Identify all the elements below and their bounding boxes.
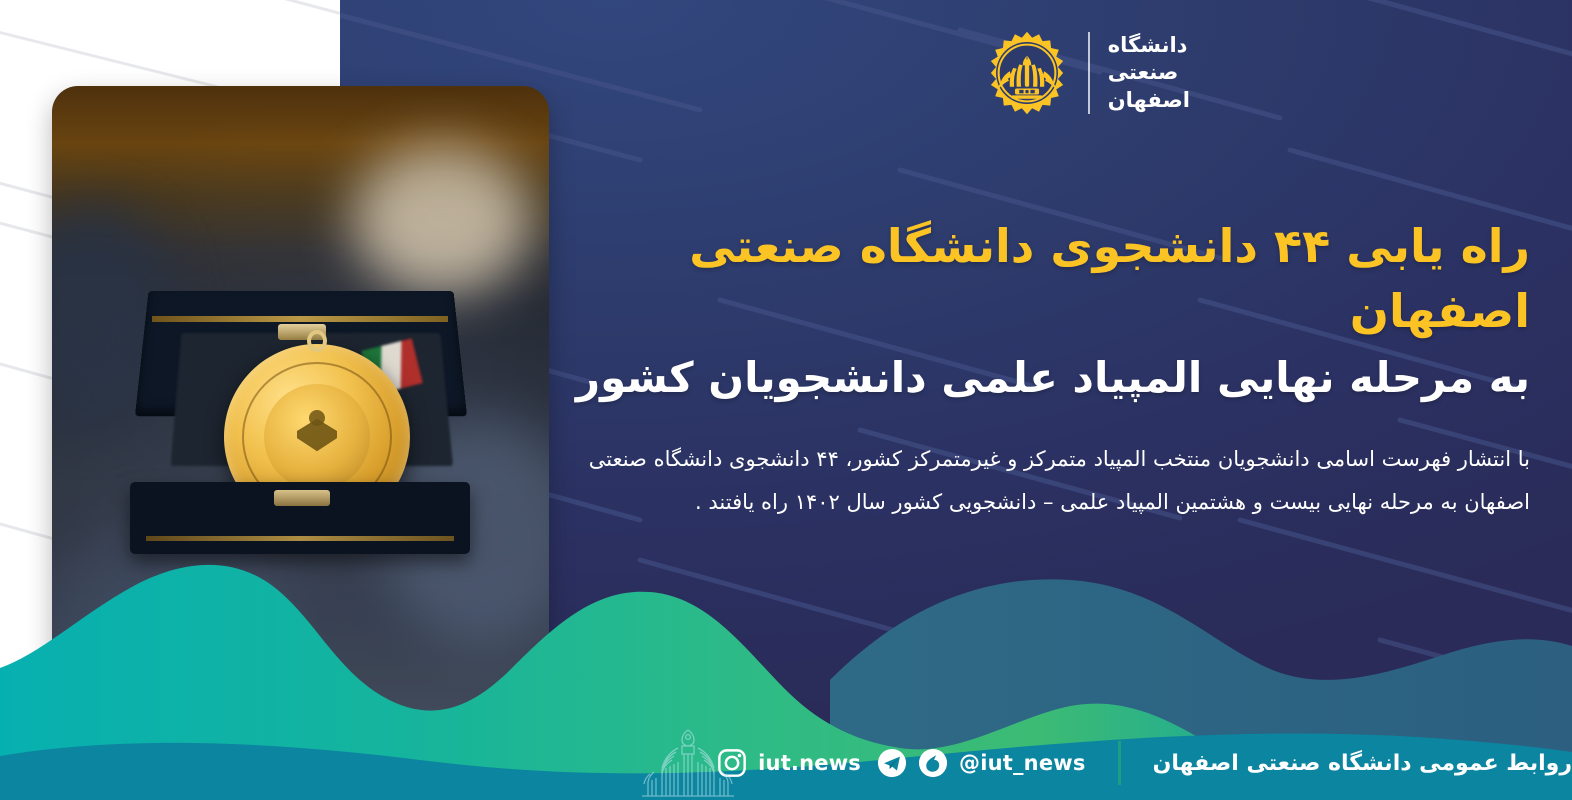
instagram-social[interactable]: iut.news [717, 748, 861, 778]
public-relations-label: روابط عمومی دانشگاه صنعتی اصفهان [1153, 751, 1572, 776]
mosque-icon [640, 726, 736, 798]
headline-block: راه یابی ۴۴ دانشجوی دانشگاه صنعتی اصفهان… [570, 214, 1530, 409]
footer-content: iut.news @iut_news روابط عمومی دانشگاه ص… [673, 741, 1572, 785]
headline-line-1: راه یابی ۴۴ دانشجوی دانشگاه صنعتی اصفهان [570, 214, 1530, 345]
university-name-line-2: صنعتی [1108, 60, 1179, 86]
footer-divider [1118, 741, 1121, 785]
messaging-social[interactable]: @iut_news [877, 748, 1086, 778]
telegram-icon[interactable] [877, 748, 907, 778]
headline-line-2: به مرحله نهایی المپیاد علمی دانشجویان کش… [570, 347, 1530, 409]
messaging-handle[interactable]: @iut_news [959, 751, 1086, 775]
footer-bar: iut.news @iut_news روابط عمومی دانشگاه ص… [0, 726, 1572, 800]
iut-gear-logo-icon [984, 30, 1070, 116]
university-name-text: دانشگاه صنعتی اصفهان [1108, 33, 1190, 114]
instagram-handle[interactable]: iut.news [758, 751, 861, 775]
university-logo-block: دانشگاه صنعتی اصفهان [984, 30, 1190, 116]
university-name-line-3: اصفهان [1108, 88, 1190, 114]
university-name-line-1: دانشگاه [1108, 33, 1188, 59]
body-paragraph: با انتشار فهرست اسامی دانشجویان منتخب ال… [580, 438, 1530, 524]
bale-icon[interactable] [918, 748, 948, 778]
poster-canvas: دانشگاه صنعتی اصفهان [0, 0, 1572, 800]
logo-divider [1088, 32, 1090, 114]
